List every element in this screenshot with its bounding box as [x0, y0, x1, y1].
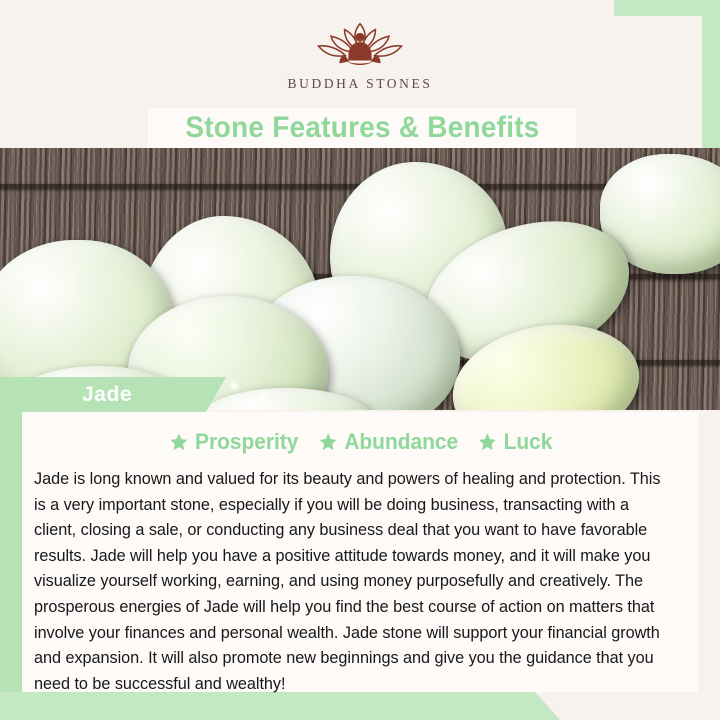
- stone-name-bar: Jade: [0, 377, 226, 412]
- keyword-prosperity: Prosperity: [169, 429, 298, 455]
- keyword-luck: Luck: [478, 429, 552, 455]
- keyword-abundance: Abundance: [319, 429, 458, 455]
- page-title: Stone Features & Benefits: [185, 111, 539, 145]
- star-icon: [169, 432, 188, 452]
- keyword-label: Prosperity: [195, 429, 298, 455]
- star-icon: [319, 432, 338, 452]
- keyword-label: Abundance: [345, 429, 459, 455]
- sparkle: [232, 384, 236, 388]
- content-card: Prosperity Abundance Luck Jade is long k…: [22, 412, 698, 692]
- keyword-list: Prosperity Abundance Luck: [22, 422, 698, 462]
- brand-name: BUDDHA STONES: [288, 76, 433, 92]
- stone-photo: [0, 148, 720, 410]
- sparkle: [262, 394, 266, 398]
- stone-name: Jade: [82, 383, 132, 407]
- keyword-label: Luck: [504, 429, 553, 455]
- brand-logo: BUDDHA STONES: [0, 16, 720, 106]
- stone-description: Jade is long known and valued for its be…: [34, 466, 671, 696]
- frame-top-inner-fill: [0, 0, 614, 16]
- stone-info-card: BUDDHA STONES Stone Features & Benefits …: [0, 0, 720, 720]
- star-icon: [478, 432, 497, 452]
- lotus-meditation-figure-icon: [301, 16, 419, 74]
- title-banner: Stone Features & Benefits: [148, 108, 576, 148]
- frame-top-band: [0, 0, 720, 16]
